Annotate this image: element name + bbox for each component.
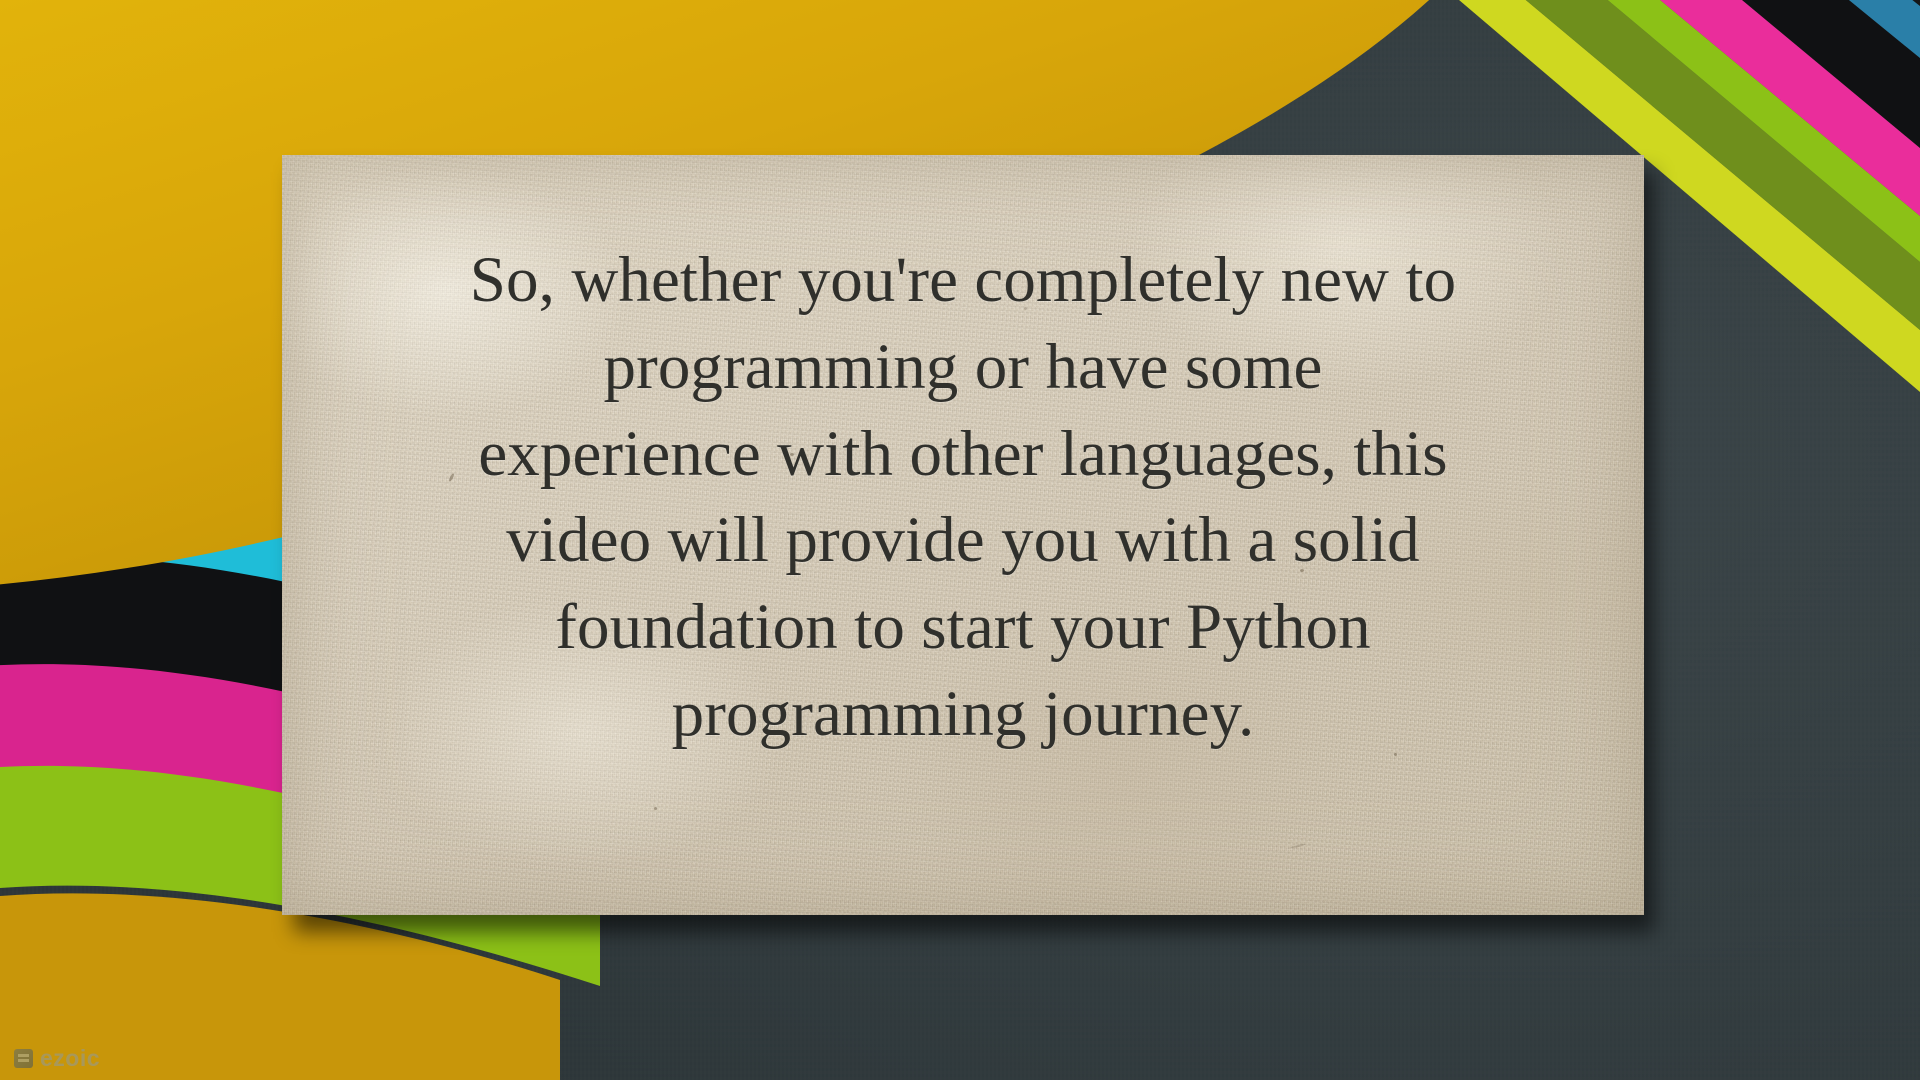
ezoic-logo-icon [14,1049,33,1068]
quote-line: foundation to start your Python [328,584,1598,671]
ezoic-watermark: ezoic [14,1045,100,1072]
quote-line: programming or have some [328,324,1598,411]
quote-card: So, whether you're completely new to pro… [282,155,1644,915]
slide-canvas: So, whether you're completely new to pro… [0,0,1920,1080]
quote-line: experience with other languages, this [328,411,1598,498]
quote-line: video will provide you with a solid [328,497,1598,584]
quote-text-block: So, whether you're completely new to pro… [282,237,1644,758]
quote-line: programming journey. [328,671,1598,758]
quote-line: So, whether you're completely new to [328,237,1598,324]
ezoic-watermark-label: ezoic [40,1045,100,1072]
paper-speck [1290,843,1306,849]
paper-speck [654,807,657,810]
